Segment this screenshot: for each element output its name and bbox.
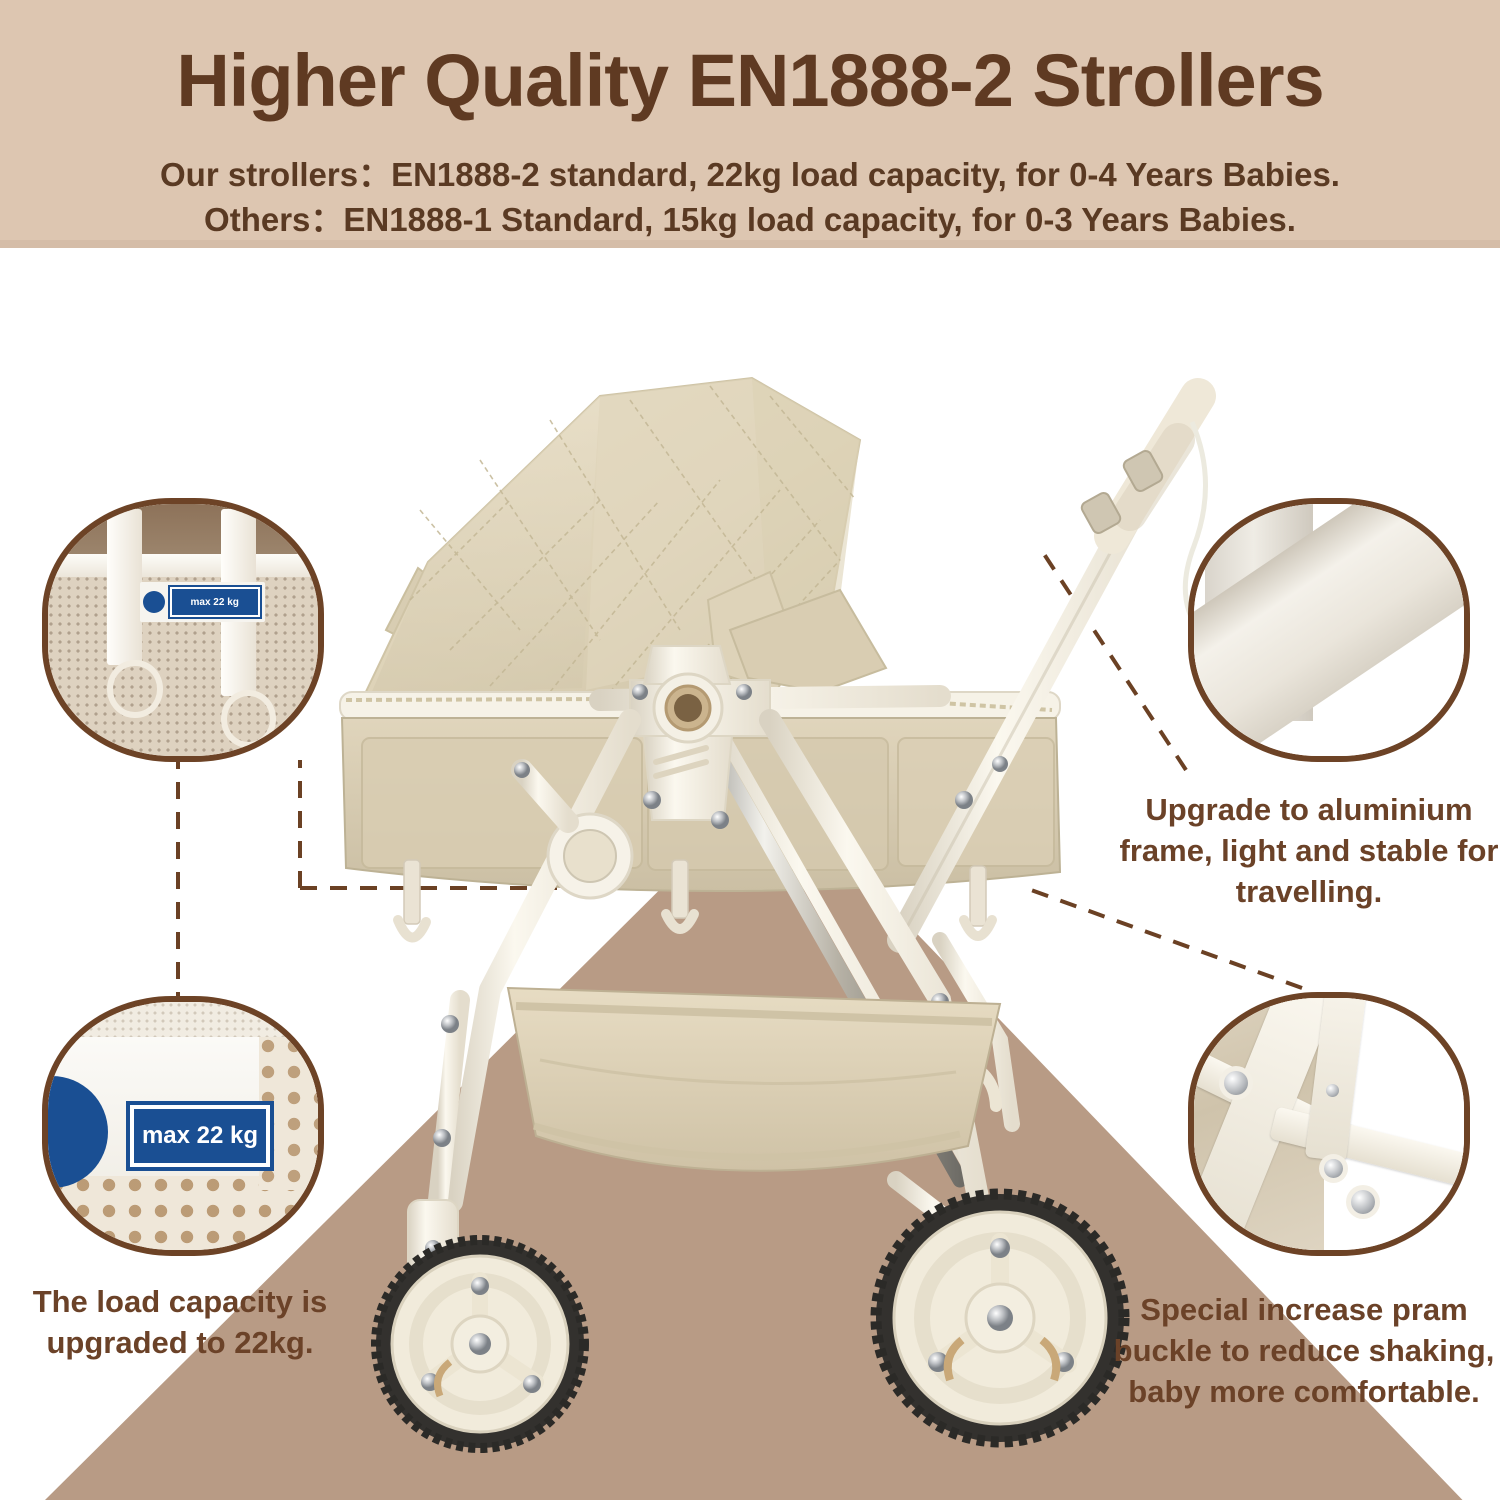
callout-bubble-harness-hooks: max 22 kg: [42, 498, 324, 762]
spec-line-ours: Our strollers：EN1888-2 standard, 22kg lo…: [0, 148, 1500, 196]
callout-bubble-load-capacity: max 22 kg: [42, 996, 324, 1256]
pram-buckle-image: [1194, 998, 1464, 1250]
aluminium-frame-image: [1194, 504, 1464, 756]
infographic-canvas: Higher Quality EN1888-2 Strollers Our st…: [0, 0, 1500, 1500]
spec-line-others: Others：EN1888-1 Standard, 15kg load capa…: [0, 193, 1500, 241]
left-vertical-strap: [107, 509, 142, 665]
screw-pin-small: [1326, 1084, 1339, 1097]
screw-lower-right: [1351, 1190, 1375, 1214]
screw-center: [1324, 1159, 1343, 1178]
left-hook-icon: [107, 660, 162, 717]
horizontal-strap: [48, 554, 318, 577]
harness-detail-image: max 22 kg: [48, 504, 318, 756]
caption-aluminium-frame: Upgrade to aluminium frame, light and st…: [1118, 790, 1500, 913]
header-underline: [0, 240, 1500, 248]
right-hook-icon: [221, 690, 276, 747]
warning-icon: [143, 591, 165, 613]
max-load-value-small: max 22 kg: [168, 585, 262, 619]
callout-bubble-aluminium-frame: [1188, 498, 1470, 762]
mesh-edge-texture: [48, 1002, 318, 1042]
stroller-product-image: [300, 300, 1240, 1480]
stroller-storage-basket: [508, 988, 1000, 1171]
caption-pram-buckle: Special increase pram buckle to reduce s…: [1108, 1290, 1500, 1413]
screw-upper-left: [1224, 1071, 1248, 1095]
callout-bubble-pram-buckle: [1188, 992, 1470, 1256]
max-load-value-large: max 22 kg: [126, 1101, 274, 1171]
page-title: Higher Quality EN1888-2 Strollers: [0, 38, 1500, 123]
max-load-label: max 22 kg: [140, 582, 265, 622]
caption-load-capacity: The load capacity is upgraded to 22kg.: [8, 1282, 352, 1364]
stroller-front-wheel: [376, 1240, 584, 1448]
load-label-zoom-image: max 22 kg: [48, 1002, 318, 1250]
stroller-rear-wheel: [876, 1194, 1124, 1442]
